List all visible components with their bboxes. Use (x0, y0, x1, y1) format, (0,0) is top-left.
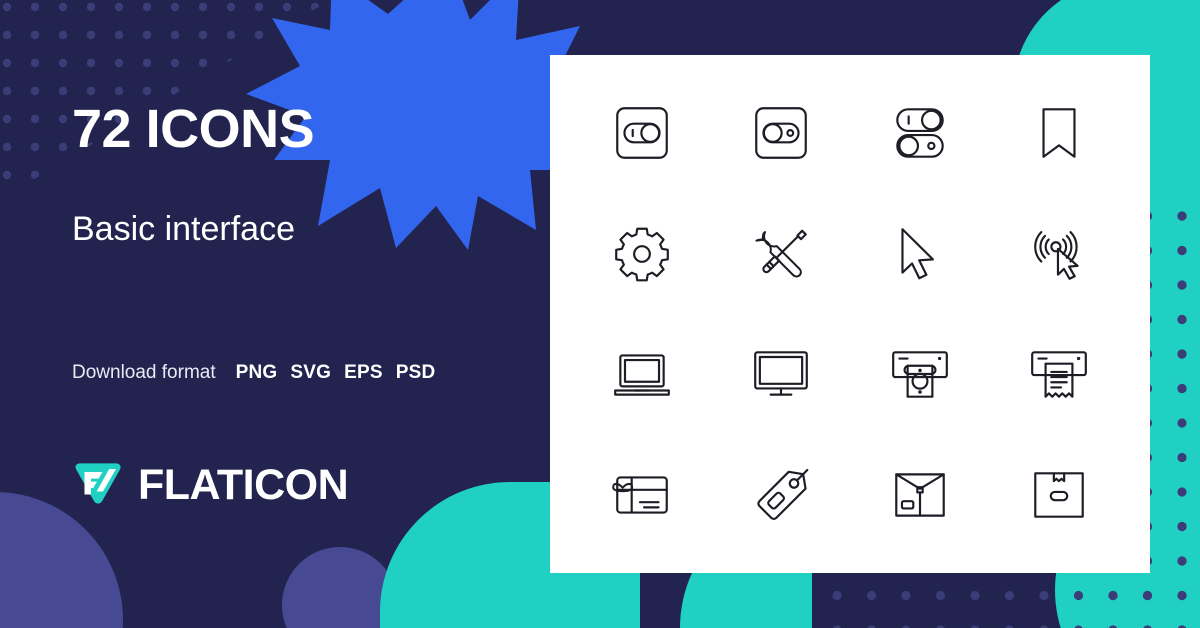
icon-cell-bookmark (989, 73, 1128, 194)
icon-cell-price-tag (711, 435, 850, 556)
bookmark-icon (1026, 100, 1092, 166)
text-column: 72 ICONS Basic interface Download format… (72, 0, 542, 628)
flaticon-triangle-logo-icon (72, 460, 124, 510)
banner-root: 72 ICONS Basic interface Download format… (0, 0, 1200, 628)
icon-cell-monitor (711, 314, 850, 435)
download-format-label: Download format (72, 362, 216, 384)
icon-cell-envelope-package (850, 435, 989, 556)
icon-cell-receipt (989, 314, 1128, 435)
toggle-switch-on-icon (609, 100, 675, 166)
double-toggle-settings-icon (887, 100, 953, 166)
cardboard-box-icon (1026, 462, 1092, 528)
format-svg: SVG (290, 362, 331, 384)
icon-cell-toggle-switch-on (572, 73, 711, 194)
receipt-printer-icon (1026, 341, 1092, 407)
icon-cell-tools (711, 194, 850, 315)
icon-preview-card (550, 55, 1150, 573)
page-title: 72 ICONS (72, 102, 314, 156)
icon-cell-cursor-click (989, 194, 1128, 315)
icon-cell-gift-card (572, 435, 711, 556)
format-eps: EPS (344, 362, 383, 384)
format-list: PNG SVG EPS PSD (236, 362, 436, 384)
icon-cell-double-toggle (850, 73, 989, 194)
icon-cell-cursor-arrow (850, 194, 989, 315)
icon-cell-box (989, 435, 1128, 556)
download-format-row: Download format PNG SVG EPS PSD (72, 362, 435, 384)
monitor-screen-icon (748, 341, 814, 407)
format-psd: PSD (396, 362, 436, 384)
icon-cell-gear (572, 194, 711, 315)
envelope-package-icon (887, 462, 953, 528)
icon-cell-atm-cash (850, 314, 989, 435)
icon-cell-laptop (572, 314, 711, 435)
toggle-switch-off-icon (748, 100, 814, 166)
gift-card-icon (609, 462, 675, 528)
cursor-arrow-icon (887, 221, 953, 287)
price-tag-icon (748, 462, 814, 528)
atm-cash-withdrawal-icon (887, 341, 953, 407)
tools-wrench-screwdriver-icon (748, 221, 814, 287)
pack-subtitle: Basic interface (72, 211, 295, 248)
flaticon-logo: FLATICON (72, 460, 348, 510)
flaticon-wordmark: FLATICON (138, 464, 348, 507)
icon-cell-toggle-switch-off (711, 73, 850, 194)
cursor-click-ripple-icon (1026, 221, 1092, 287)
laptop-icon (609, 341, 675, 407)
format-png: PNG (236, 362, 278, 384)
gear-settings-icon (609, 221, 675, 287)
